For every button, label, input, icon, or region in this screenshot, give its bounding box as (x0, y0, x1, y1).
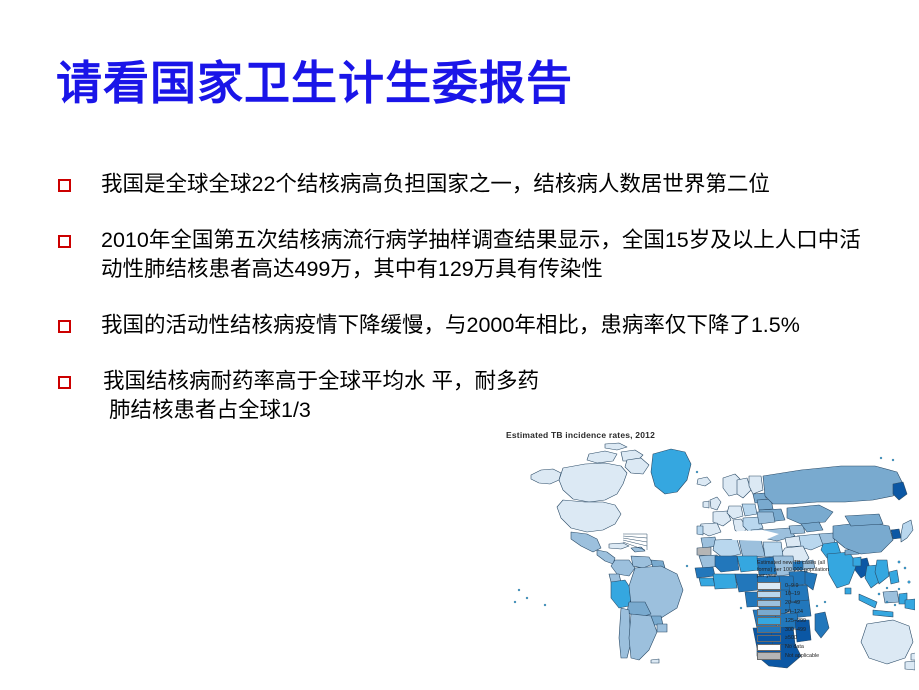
country-png (905, 599, 915, 610)
country-usa (557, 500, 621, 532)
country-greenland (651, 449, 691, 494)
country-mongolia (845, 514, 883, 526)
slide-canvas: 请看国家卫生计生委报告 我国是全球全球22个结核病高负担国家之一，结核病人数居世… (0, 0, 919, 690)
country-borneo (883, 591, 899, 603)
list-item: 我国是全球全球22个结核病高负担国家之一，结核病人数居世界第二位 (58, 170, 878, 200)
bullet-list: 我国是全球全球22个结核病高负担国家之一，结核病人数居世界第二位 2010年全国… (58, 170, 878, 440)
square-bullet-icon (58, 179, 71, 192)
country-baffin (625, 458, 649, 474)
country-kazakhstan (787, 505, 833, 524)
legend-swatch-10-19 (757, 591, 781, 598)
legend-label: No data (785, 644, 869, 650)
country-china (833, 522, 893, 554)
legend-item: 300–499 (757, 626, 869, 634)
tb-incidence-map-figure: Estimated TB incidence rates, 2012 (501, 428, 915, 686)
country-niger (737, 556, 759, 572)
legend-item: 10–19 (757, 591, 869, 599)
legend-label: 20–49 (785, 600, 869, 606)
country-alaska (531, 469, 561, 484)
country-poland (742, 504, 757, 516)
legend-label: 50–124 (785, 609, 869, 615)
legend-swatch-no-data (757, 644, 781, 651)
legend-label: 125–299 (785, 618, 869, 624)
legend-label: 0–9.9 (785, 583, 869, 589)
legend-item: ≥500 (757, 634, 869, 642)
page-title: 请看国家卫生计生委报告 (56, 58, 573, 109)
legend-item: No data (757, 643, 869, 651)
legend-swatch-not-applicable (757, 652, 781, 659)
legend-label: ≥500 (785, 635, 869, 641)
legend-swatch-300-499 (757, 626, 781, 633)
country-philippines (889, 570, 899, 584)
legend-swatch-125-299 (757, 617, 781, 624)
map-legend: Estimated new TB cases (all forms) per 1… (757, 560, 869, 661)
country-argentina (629, 614, 657, 660)
legend-label: Not applicable (785, 653, 869, 659)
bullet-text: 2010年全国第五次结核病流行病学抽样调查结果显示，全国15岁及以上人口中活动性… (71, 226, 878, 285)
country-japan (901, 520, 913, 542)
country-canada (559, 463, 627, 502)
country-finland (749, 476, 763, 494)
square-bullet-icon (58, 376, 71, 389)
legend-swatch-500-plus (757, 635, 781, 642)
country-colombia (611, 560, 635, 576)
country-central-america (597, 550, 615, 564)
legend-item: 0–9.9 (757, 582, 869, 590)
country-western-sahara (697, 547, 711, 556)
country-cote-ghana (713, 574, 737, 589)
list-item: 2010年全国第五次结核病流行病学抽样调查结果显示，全国15岁及以上人口中活动性… (58, 226, 878, 285)
country-iceland (697, 477, 711, 486)
country-portugal (697, 526, 703, 535)
legend-label: 300–499 (785, 627, 869, 633)
country-new-zealand-n (911, 652, 915, 660)
country-ireland (703, 501, 709, 508)
country-falklands (651, 659, 659, 663)
list-item: 我国结核病耐药率高于全球平均水 平，耐多药肺结核患者占全球1/3 (58, 367, 878, 426)
country-new-zealand-s (905, 661, 915, 670)
country-russia (763, 466, 903, 504)
bullet-text: 我国是全球全球22个结核病高负担国家之一，结核病人数居世界第二位 (71, 170, 878, 200)
legend-item: 125–299 (757, 617, 869, 625)
country-cuba (609, 543, 629, 549)
legend-swatch-50-124 (757, 609, 781, 616)
country-uk (710, 497, 721, 510)
legend-item: 50–124 (757, 608, 869, 616)
country-senegal-guinea (695, 567, 715, 578)
country-indonesia-java (873, 610, 893, 617)
legend-label: 10–19 (785, 591, 869, 597)
bullet-text: 我国结核病耐药率高于全球平均水 平，耐多药肺结核患者占全球1/3 (71, 367, 539, 426)
country-egypt (763, 542, 783, 557)
country-mali (715, 556, 739, 572)
square-bullet-icon (58, 235, 71, 248)
country-romania (757, 512, 775, 524)
bullet-text: 我国的活动性结核病疫情下降缓慢，与2000年相比，患病率仅下降了1.5% (71, 311, 878, 341)
country-nigeria (735, 574, 759, 592)
country-mexico (571, 532, 601, 552)
country-sierra-liberia (699, 578, 715, 586)
map-title: Estimated TB incidence rates, 2012 (506, 430, 655, 440)
list-item: 我国的活动性结核病疫情下降缓慢，与2000年相比，患病率仅下降了1.5% (58, 311, 878, 341)
country-tunisia-libya (739, 540, 765, 558)
country-korea (891, 529, 901, 539)
legend-swatch-20-49 (757, 600, 781, 607)
legend-swatch-0-9.9 (757, 582, 781, 589)
country-venezuela (631, 556, 653, 568)
country-iraq-syria (785, 536, 801, 547)
country-kamchatka (893, 482, 907, 500)
legend-header: Estimated new TB cases (all forms) per 1… (757, 560, 835, 580)
legend-item: 20–49 (757, 599, 869, 607)
legend-item: Not applicable (757, 652, 869, 660)
country-canada-arctic-1 (587, 451, 617, 463)
country-uruguay (657, 624, 667, 632)
country-canada-arctic-3 (605, 443, 627, 450)
square-bullet-icon (58, 320, 71, 333)
